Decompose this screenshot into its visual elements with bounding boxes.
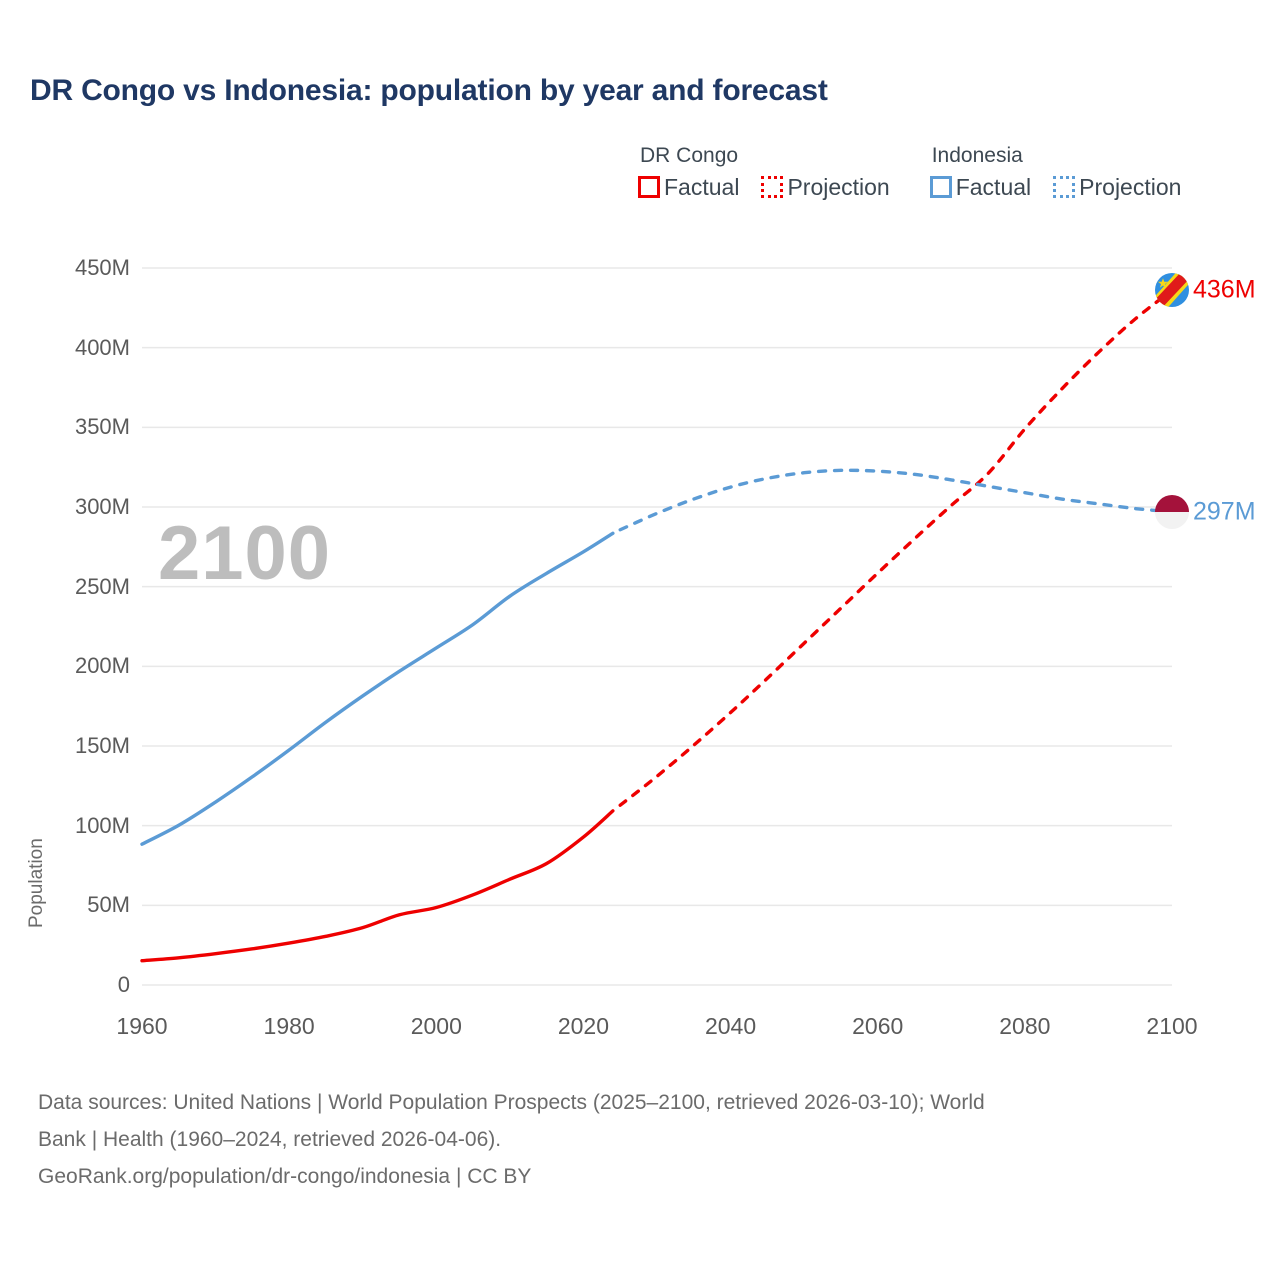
y-tick-label: 300M [34, 494, 130, 520]
legend-swatch-solid-icon [930, 176, 952, 198]
series-lines [142, 290, 1172, 960]
legend-label-dr-congo-factual: Factual [664, 174, 739, 200]
series-line-factual-dr-congo [142, 811, 613, 961]
x-tick-label: 2060 [852, 1013, 903, 1040]
footer-line-1: Data sources: United Nations | World Pop… [38, 1084, 1238, 1121]
legend-label-indonesia-projection: Projection [1079, 174, 1181, 200]
x-tick-label: 2040 [705, 1013, 756, 1040]
legend-item-indonesia-factual[interactable]: Factual [930, 174, 1031, 200]
y-tick-label: 400M [34, 335, 130, 361]
legend-entries-indonesia: Factual Projection [930, 174, 1182, 200]
legend-group-title-indonesia: Indonesia [930, 142, 1182, 170]
dr-congo-flag-marker-icon [1155, 273, 1189, 307]
legend-item-dr-congo-factual[interactable]: Factual [638, 174, 739, 200]
x-tick-label: 2100 [1146, 1013, 1197, 1040]
chart-page: DR Congo vs Indonesia: population by yea… [0, 0, 1280, 1280]
end-value-label-indonesia: 297M [1193, 497, 1256, 526]
plot-svg [0, 248, 1280, 1008]
legend-swatch-dotted-icon [1053, 176, 1075, 198]
footer-sources: Data sources: United Nations | World Pop… [38, 1084, 1238, 1195]
y-tick-label: 100M [34, 813, 130, 839]
legend-swatch-dotted-icon [761, 176, 783, 198]
x-tick-label: 1960 [116, 1013, 167, 1040]
legend-item-indonesia-projection[interactable]: Projection [1053, 174, 1181, 200]
footer-line-2: Bank | Health (1960–2024, retrieved 2026… [38, 1121, 1238, 1158]
x-tick-label: 1980 [264, 1013, 315, 1040]
y-tick-label: 0 [34, 972, 130, 998]
legend-label-indonesia-factual: Factual [956, 174, 1031, 200]
legend-group-dr-congo: DR Congo Factual Projection [638, 142, 890, 200]
legend-group-indonesia: Indonesia Factual Projection [930, 142, 1182, 200]
y-tick-label: 150M [34, 733, 130, 759]
x-tick-label: 2000 [411, 1013, 462, 1040]
x-tick-label: 2020 [558, 1013, 609, 1040]
y-tick-label: 250M [34, 574, 130, 600]
legend-entries-dr-congo: Factual Projection [638, 174, 890, 200]
page-title: DR Congo vs Indonesia: population by yea… [30, 74, 828, 108]
y-tick-label: 200M [34, 653, 130, 679]
series-line-factual-indonesia [142, 533, 613, 844]
y-tick-label: 450M [34, 255, 130, 281]
legend-group-title-dr-congo: DR Congo [638, 142, 890, 170]
end-value-label-dr-congo: 436M [1193, 276, 1256, 305]
legend-item-dr-congo-projection[interactable]: Projection [761, 174, 889, 200]
chart-plot-area: Population 2100 050M100M150M200M250M300M… [0, 248, 1280, 1008]
gridlines [142, 268, 1172, 985]
y-tick-label: 50M [34, 892, 130, 918]
legend-swatch-solid-icon [638, 176, 660, 198]
y-tick-label: 350M [34, 414, 130, 440]
legend-label-dr-congo-projection: Projection [787, 174, 889, 200]
series-line-projection-indonesia [620, 470, 1172, 529]
indonesia-flag-marker-icon [1155, 495, 1189, 529]
x-tick-label: 2080 [999, 1013, 1050, 1040]
series-line-projection-dr-congo [620, 290, 1172, 805]
chart-legend: DR Congo Factual Projection Indonesia Fa… [638, 142, 1181, 200]
footer-line-3: GeoRank.org/population/dr-congo/indonesi… [38, 1158, 1238, 1195]
